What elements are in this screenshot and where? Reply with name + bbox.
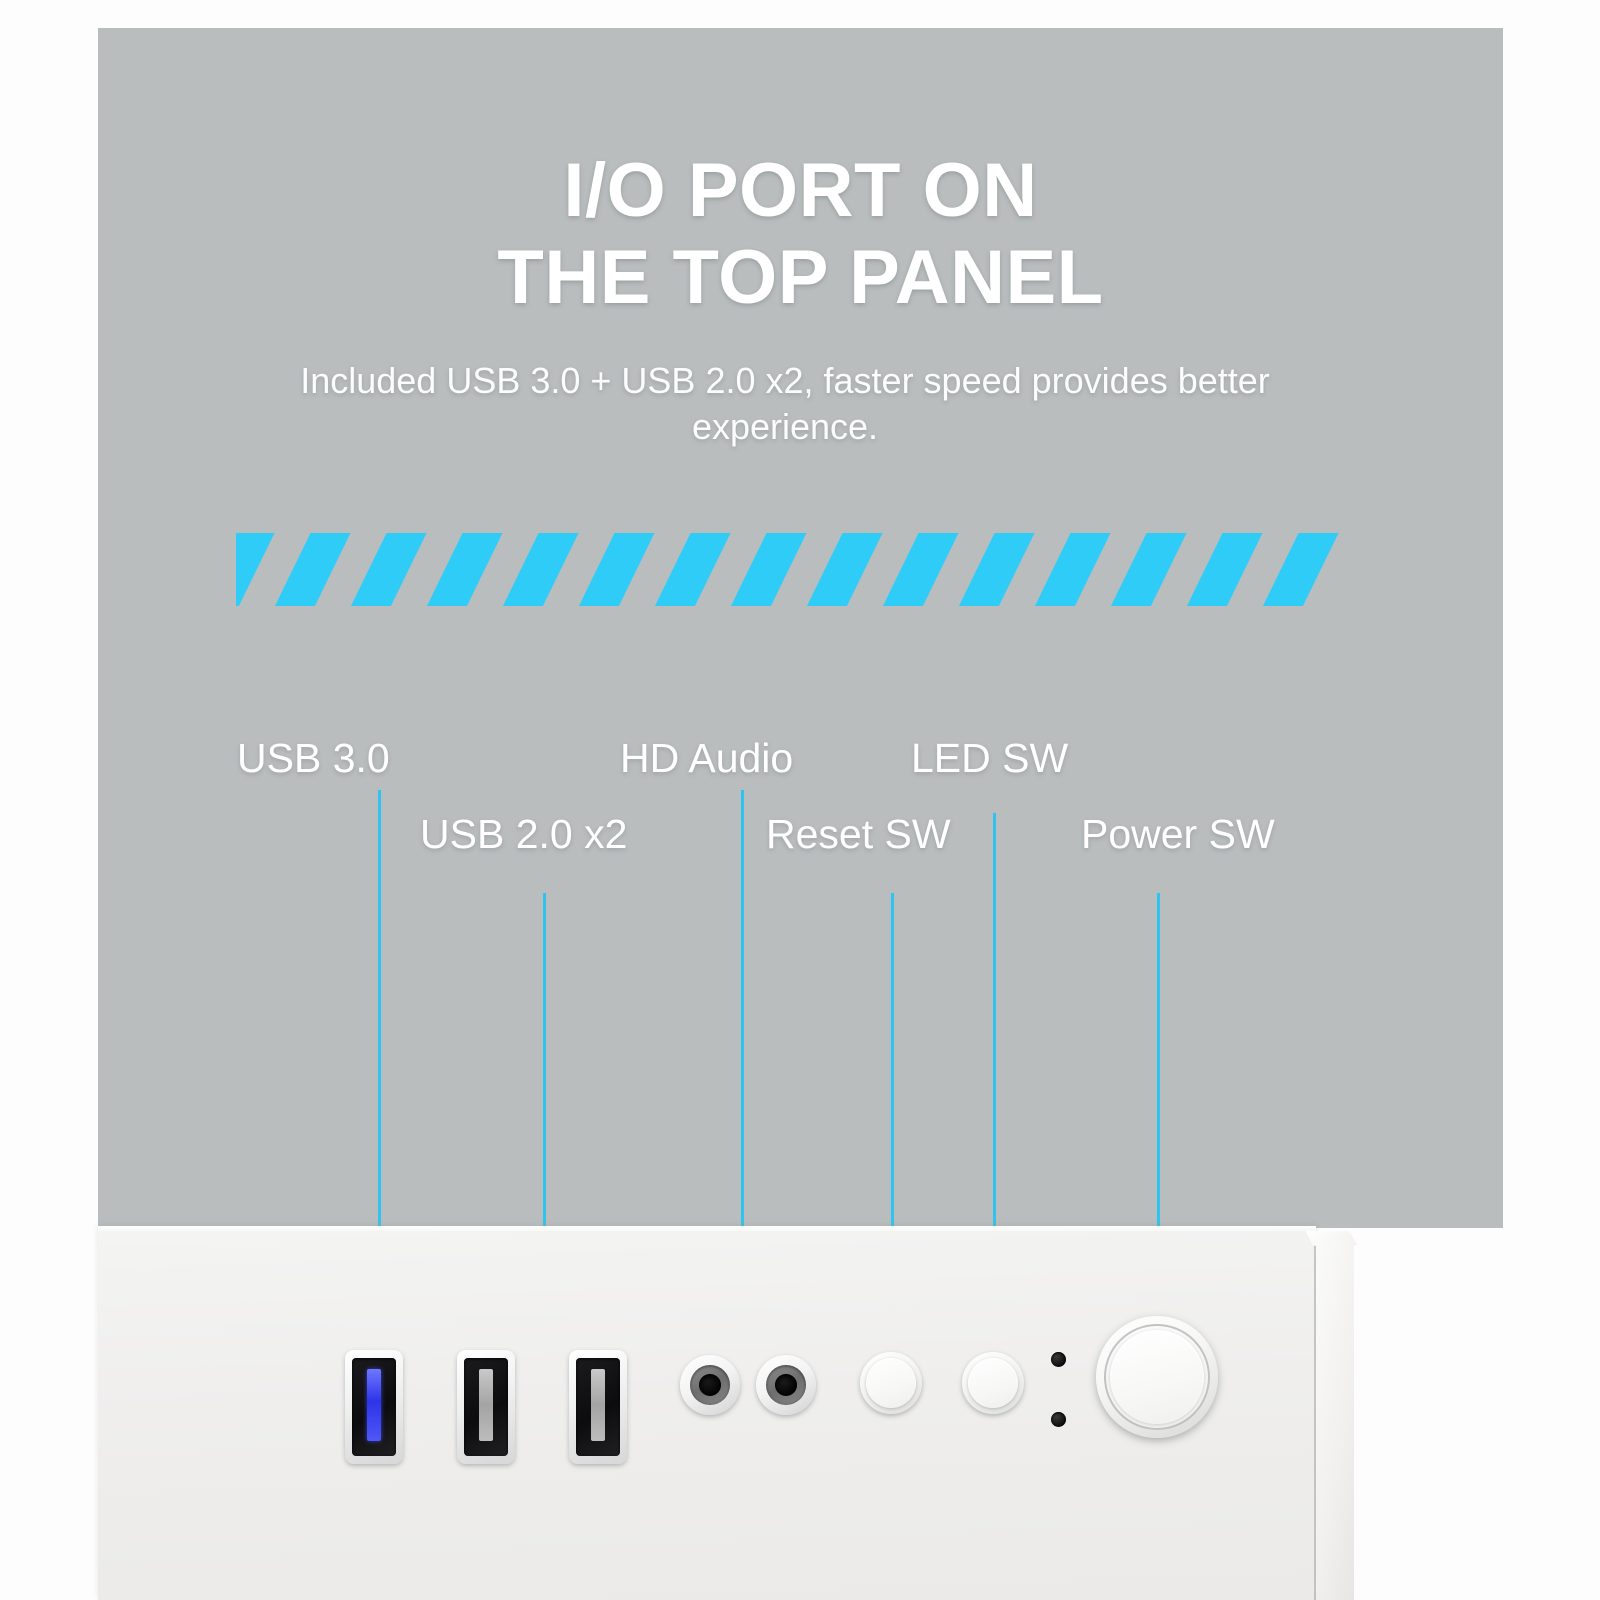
usb-tongue: [367, 1369, 381, 1441]
power-button-face: [1110, 1330, 1204, 1424]
led-hdd-indicator: [1051, 1412, 1066, 1427]
reset-switch[interactable]: [860, 1352, 922, 1414]
callout-label-usb20: USB 2.0 x2: [420, 811, 627, 858]
stripe-segment: [261, 533, 363, 606]
usb-tongue: [479, 1369, 493, 1441]
stripe-segment: [1249, 533, 1351, 606]
stripe-segment: [413, 533, 515, 606]
callout-label-resetsw: Reset SW: [766, 811, 951, 858]
power-button-ring: [1104, 1324, 1210, 1430]
callout-label-powersw: Power SW: [1081, 811, 1275, 858]
usb-cavity: [464, 1358, 508, 1456]
stripe-segment: [869, 533, 971, 606]
usb-tongue: [591, 1369, 605, 1441]
usb-cavity: [576, 1358, 620, 1456]
stripe-segment: [489, 533, 591, 606]
callout-label-hdaudio: HD Audio: [620, 735, 793, 782]
usb-3-0-port[interactable]: [345, 1350, 403, 1464]
stripe-segment: [337, 533, 439, 606]
stripe-segment: [565, 533, 667, 606]
led-switch[interactable]: [962, 1352, 1024, 1414]
stripe-segment: [641, 533, 743, 606]
switch-face: [866, 1358, 916, 1408]
case-side-panel: [1316, 1238, 1354, 1600]
stripe-segment: [945, 533, 1047, 606]
page-title: I/O PORT ON THE TOP PANEL: [98, 148, 1503, 321]
audio-jack-microphone[interactable]: [756, 1355, 816, 1415]
stripe-segment: [717, 533, 819, 606]
audio-jack-headphone[interactable]: [680, 1355, 740, 1415]
usb-cavity: [352, 1358, 396, 1456]
jack-ring: [690, 1365, 730, 1405]
page-subtitle: Included USB 3.0 + USB 2.0 x2, faster sp…: [280, 358, 1290, 450]
power-button[interactable]: [1096, 1316, 1218, 1438]
stripe-segment: [1173, 533, 1275, 606]
product-infographic: I/O PORT ON THE TOP PANEL Included USB 3…: [0, 0, 1600, 1600]
case-panel-seam: [1314, 1246, 1316, 1600]
usb-2-0-port-2[interactable]: [569, 1350, 627, 1464]
stripe-segment: [793, 533, 895, 606]
jack-ring: [766, 1365, 806, 1405]
page-title-line-2: THE TOP PANEL: [98, 235, 1503, 322]
page-title-line-1: I/O PORT ON: [563, 148, 1037, 233]
stripe-segment: [1097, 533, 1199, 606]
led-power-indicator: [1051, 1352, 1066, 1367]
jack-hole: [699, 1374, 721, 1396]
callout-label-usb30: USB 3.0: [237, 735, 390, 782]
jack-hole: [775, 1374, 797, 1396]
usb-2-0-port-1[interactable]: [457, 1350, 515, 1464]
callout-label-ledsw: LED SW: [911, 735, 1068, 782]
switch-face: [968, 1358, 1018, 1408]
diagonal-stripe-band: [236, 533, 1356, 606]
case-top-edge: [98, 1226, 1316, 1231]
stripe-segment: [1021, 533, 1123, 606]
